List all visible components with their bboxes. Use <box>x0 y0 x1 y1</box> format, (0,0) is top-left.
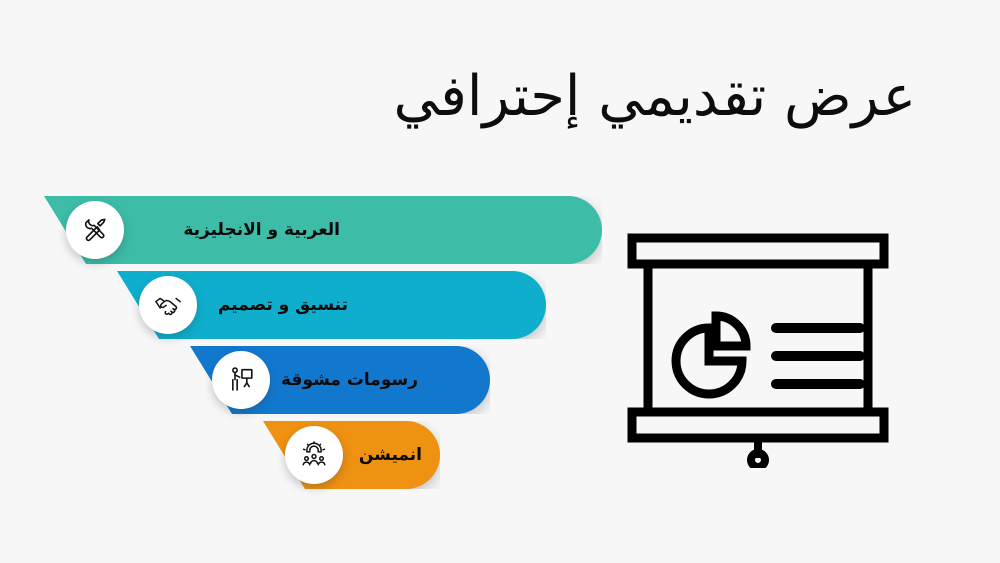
pie-chart-body <box>676 328 742 394</box>
gear-people-icon-badge[interactable] <box>285 426 343 484</box>
gear-people-icon <box>299 440 329 470</box>
funnel-bar-label: العربية و الانجليزية <box>100 196 340 264</box>
presenter-board-icon-badge[interactable] <box>212 351 270 409</box>
funnel-row[interactable]: تنسيق و تصميم <box>117 271 546 339</box>
funnel-row[interactable]: العربية و الانجليزية <box>44 196 602 264</box>
handshake-icon <box>153 290 183 320</box>
funnel-chart: العربية و الانجليزية تنسيق و تصميم <box>0 186 620 506</box>
tools-icon-badge[interactable] <box>66 201 124 259</box>
presentation-screen-icon <box>624 232 892 468</box>
handshake-icon-badge[interactable] <box>139 276 197 334</box>
pie-chart-slice <box>716 316 746 346</box>
tools-icon <box>80 215 110 245</box>
funnel-row[interactable]: رسومات مشوقة <box>190 346 490 414</box>
page-title: عرض تقديمي إحترافي <box>0 62 916 132</box>
funnel-row[interactable]: انميشن <box>263 421 440 489</box>
presenter-board-icon <box>226 365 256 395</box>
slide-canvas: عرض تقديمي إحترافي العربية و الانجليزية … <box>0 0 1000 563</box>
